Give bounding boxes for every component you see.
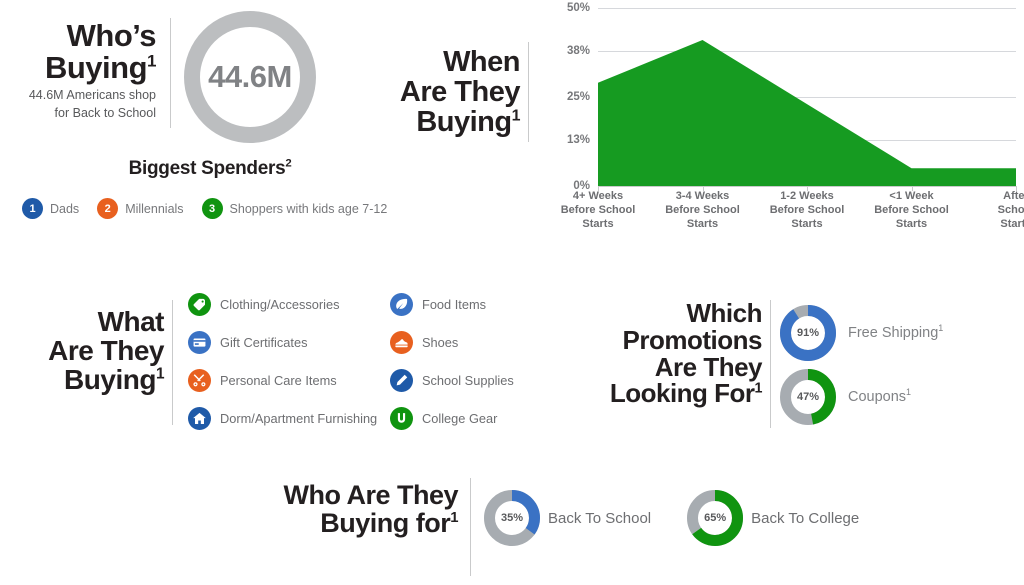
what-buying-row: Clothing/AccessoriesFood Items: [188, 285, 568, 323]
what-buying-item-label: Dorm/Apartment Furnishing: [220, 411, 377, 426]
what-buying-item: Clothing/Accessories: [188, 293, 390, 316]
what-buying-item: College Gear: [390, 407, 497, 430]
chart-y-axis-label: 25%: [548, 91, 590, 103]
promotions-heading: Which Promotions Are They Looking For1: [590, 300, 762, 407]
what-buying-item-label: Shoes: [422, 335, 458, 350]
what-buying-heading-line1: What: [98, 306, 164, 337]
what-buying-item-label: Personal Care Items: [220, 373, 337, 388]
promotion-value: 47%: [780, 369, 836, 425]
biggest-spender-item: 3Shoppers with kids age 7-12: [202, 198, 388, 219]
buying-for-heading-footnote: 1: [450, 510, 458, 526]
buying-for-donut: 35%: [484, 490, 540, 546]
buying-for-label-text: Back To College: [751, 510, 859, 527]
what-buying-item-label: Clothing/Accessories: [220, 297, 340, 312]
credit-card-icon: [188, 331, 211, 354]
infographic-canvas: Who’s Buying1 44.6M Americans shop for B…: [0, 0, 1024, 585]
what-buying-item: Shoes: [390, 331, 458, 354]
chart-x-axis-label-line: After: [961, 190, 1024, 204]
what-buying-item-label: School Supplies: [422, 373, 514, 388]
when-buying-divider: [528, 42, 529, 142]
what-buying-item: Gift Certificates: [188, 331, 390, 354]
chart-plot-area: [598, 8, 1016, 186]
buying-for-row: 65%Back To College: [687, 490, 859, 546]
chart-x-axis-label-line: Starts: [648, 218, 758, 232]
whos-buying-subtext: 44.6M Americans shop for Back to School: [8, 86, 156, 122]
spender-rank-badge: 2: [97, 198, 118, 219]
when-buying-heading: When Are They Buying1: [370, 48, 520, 138]
leaf-icon: [390, 293, 413, 316]
pencil-icon: [390, 369, 413, 392]
chart-x-axis-label-line: 1-2 Weeks: [752, 190, 862, 204]
buying-for-row: 35%Back To School: [484, 490, 651, 546]
promotions-heading-line1: Which: [687, 298, 763, 328]
when-buying-heading-line1: When: [443, 46, 520, 78]
what-buying-heading: What Are They Buying1: [14, 308, 164, 394]
buying-for-donut-list: 35%Back To School65%Back To College: [484, 490, 895, 546]
promotion-row: 91%Free Shipping1: [780, 305, 943, 361]
spender-label: Dads: [50, 202, 79, 216]
buying-for-divider: [470, 478, 471, 576]
chart-x-axis-label: 1-2 WeeksBefore SchoolStarts: [752, 190, 862, 231]
whos-buying-heading-line2: Buying: [45, 50, 147, 85]
chart-x-axis-label-line: Before School: [857, 204, 967, 218]
what-buying-item: Personal Care Items: [188, 369, 390, 392]
what-buying-item-label: Food Items: [422, 297, 486, 312]
whos-buying-heading-line1: Who’s: [67, 18, 156, 53]
promotions-heading-line4: Looking For: [610, 378, 755, 408]
what-buying-row: Dorm/Apartment FurnishingCollege Gear: [188, 399, 568, 437]
chart-x-axis-label-line: Starts: [857, 218, 967, 232]
chart-y-axis-label: 38%: [548, 45, 590, 57]
what-buying-divider: [172, 300, 173, 425]
buying-for-value: 65%: [687, 490, 743, 546]
chart-x-axis-label-line: 4+ Weeks: [543, 190, 653, 204]
letter-u-icon: [390, 407, 413, 430]
buying-for-label-text: Back To School: [548, 510, 651, 527]
buying-for-label: Back To School: [548, 510, 651, 527]
whos-buying-heading: Who’s Buying1: [8, 20, 156, 84]
promotions-heading-footnote: 1: [755, 381, 762, 397]
chart-area-series: [598, 8, 1016, 186]
chart-x-axis-label: <1 WeekBefore SchoolStarts: [857, 190, 967, 231]
biggest-spender-item: 2Millennials: [97, 198, 183, 219]
spender-label: Shoppers with kids age 7-12: [230, 202, 388, 216]
what-buying-heading-footnote: 1: [156, 365, 164, 382]
buying-for-label: Back To College: [751, 510, 859, 527]
chart-x-axis-label-line: Starts: [543, 218, 653, 232]
promotion-footnote: 1: [938, 323, 943, 333]
promotion-label: Free Shipping1: [848, 325, 943, 341]
promotion-label: Coupons1: [848, 389, 911, 405]
promotions-divider: [770, 300, 771, 428]
buying-for-heading-line2: Buying for: [320, 508, 450, 538]
shoe-icon: [390, 331, 413, 354]
what-buying-item: School Supplies: [390, 369, 514, 392]
biggest-spenders-title: Biggest Spenders2: [20, 158, 400, 180]
promotion-footnote: 1: [906, 387, 911, 397]
chart-x-axis-label: AfterSchoolStarts: [961, 190, 1024, 231]
whos-buying-subtext-line2: for Back to School: [55, 106, 156, 120]
promotion-donut: 47%: [780, 369, 836, 425]
whos-buying-divider: [170, 18, 171, 128]
chart-y-axis-label: 50%: [548, 2, 590, 14]
promotion-row: 47%Coupons1: [780, 369, 943, 425]
when-buying-heading-line3: Buying: [416, 106, 511, 138]
biggest-spender-item: 1Dads: [22, 198, 79, 219]
home-icon: [188, 407, 211, 430]
chart-x-axis-label-line: 3-4 Weeks: [648, 190, 758, 204]
promotion-value: 91%: [780, 305, 836, 361]
spender-rank-badge: 1: [22, 198, 43, 219]
scissors-icon: [188, 369, 211, 392]
chart-x-axis-label-line: Before School: [543, 204, 653, 218]
chart-x-axis-label-line: Before School: [752, 204, 862, 218]
buying-for-donut: 65%: [687, 490, 743, 546]
what-buying-item-label: College Gear: [422, 411, 497, 426]
spender-rank-badge: 3: [202, 198, 223, 219]
promotion-donut: 91%: [780, 305, 836, 361]
total-shoppers-ring: 44.6M: [184, 11, 316, 143]
what-buying-item: Dorm/Apartment Furnishing: [188, 407, 390, 430]
promotions-heading-line3: Are They: [655, 352, 762, 382]
biggest-spenders-title-text: Biggest Spenders: [129, 158, 286, 179]
promotion-label-text: Coupons: [848, 389, 906, 405]
when-buying-heading-line2: Are They: [400, 76, 520, 108]
what-buying-item-label: Gift Certificates: [220, 335, 307, 350]
biggest-spenders-list: 1Dads2Millennials3Shoppers with kids age…: [22, 198, 405, 219]
chart-x-axis-label: 4+ WeeksBefore SchoolStarts: [543, 190, 653, 231]
chart-x-axis-label-line: Starts: [752, 218, 862, 232]
when-buying-heading-footnote: 1: [512, 107, 520, 124]
what-buying-row: Gift CertificatesShoes: [188, 323, 568, 361]
biggest-spenders-footnote: 2: [285, 158, 291, 170]
chart-y-axis-label: 13%: [548, 134, 590, 146]
what-buying-row: Personal Care ItemsSchool Supplies: [188, 361, 568, 399]
buying-for-value: 35%: [484, 490, 540, 546]
buying-for-heading-line1: Who Are They: [283, 480, 458, 510]
tag-icon: [188, 293, 211, 316]
ring-circle: 44.6M: [184, 11, 316, 143]
promotions-donut-list: 91%Free Shipping147%Coupons1: [780, 305, 943, 433]
chart-x-axis-label-line: Before School: [648, 204, 758, 218]
what-buying-item: Food Items: [390, 293, 486, 316]
when-buying-area-chart: 50%38%25%13%0%4+ WeeksBefore SchoolStart…: [548, 8, 1016, 228]
buying-for-heading: Who Are They Buying for1: [248, 482, 458, 538]
what-buying-heading-line2: Are They: [48, 335, 164, 366]
whos-buying-subtext-line1: 44.6M Americans shop: [29, 88, 156, 102]
chart-x-axis-label-line: <1 Week: [857, 190, 967, 204]
spender-label: Millennials: [125, 202, 183, 216]
what-buying-item-grid: Clothing/AccessoriesFood ItemsGift Certi…: [188, 285, 568, 437]
chart-x-axis-label: 3-4 WeeksBefore SchoolStarts: [648, 190, 758, 231]
whos-buying-heading-footnote: 1: [147, 52, 156, 71]
chart-x-axis-label-line: Starts: [961, 218, 1024, 232]
promotion-label-text: Free Shipping: [848, 325, 938, 341]
chart-x-axis-label-line: School: [961, 204, 1024, 218]
what-buying-heading-line3: Buying: [64, 364, 156, 395]
ring-value: 44.6M: [208, 59, 292, 95]
promotions-heading-line2: Promotions: [623, 325, 762, 355]
